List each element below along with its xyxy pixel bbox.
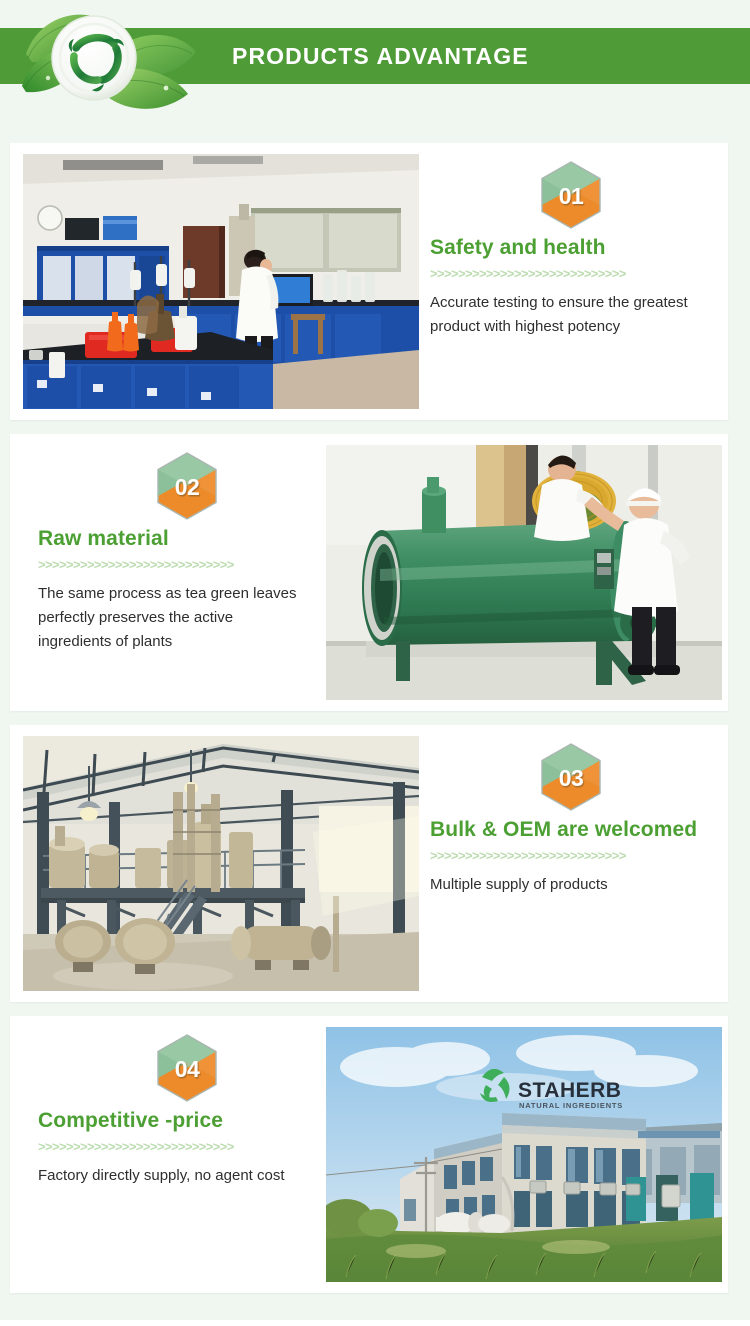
badge-number-03: 03 [540,743,602,811]
card-title-02: Raw material [38,526,338,551]
photo-laboratory [23,154,419,409]
badge-hexagon-04: 04 [156,1034,218,1102]
card-title-04: Competitive -price [38,1108,338,1133]
card-body-04: Factory directly supply, no agent cost [38,1164,300,1188]
chevron-divider-03: >>>>>>>>>>>>>>>>>>>>>>>>>>>> [430,849,685,862]
card-body-03: Multiple supply of products [430,873,692,897]
svg-text:STAHERB: STAHERB [518,1079,621,1102]
badge-number-04: 04 [156,1034,218,1102]
advantage-card-02: 02 Raw material >>>>>>>>>>>>>>>>>>>>>>>>… [10,434,728,711]
photo-extraction-workshop [23,736,419,991]
advantage-card-04: STAHERB NATURAL INGREDIENTS [10,1016,728,1293]
card-text-04: 04 Competitive -price >>>>>>>>>>>>>>>>>>… [38,1034,338,1188]
chevron-divider-04: >>>>>>>>>>>>>>>>>>>>>>>>>>>> [38,1140,293,1153]
card-title-03: Bulk & OEM are welcomed [430,817,730,842]
page-title: PRODUCTS ADVANTAGE [232,28,529,84]
badge-hexagon-01: 01 [540,161,602,229]
card-title-01: Safety and health [430,235,730,260]
card-body-02: The same process as tea green leaves per… [38,582,300,654]
badge-number-02: 02 [156,452,218,520]
badge-hexagon-03: 03 [540,743,602,811]
advantage-card-01: 01 Safety and health >>>>>>>>>>>>>>>>>>>… [10,143,728,420]
page-bottom-edge [0,1320,750,1326]
staherb-leaf-emblem-icon [18,0,218,122]
advantage-card-03: 03 Bulk & OEM are welcomed >>>>>>>>>>>>>… [10,725,728,1002]
photo-factory-building: STAHERB NATURAL INGREDIENTS [326,1027,722,1282]
photo-tea-roasting-machine [326,445,722,700]
badge-number-01: 01 [540,161,602,229]
chevron-divider-02: >>>>>>>>>>>>>>>>>>>>>>>>>>>> [38,558,293,571]
card-text-03: 03 Bulk & OEM are welcomed >>>>>>>>>>>>>… [430,743,730,897]
card-text-02: 02 Raw material >>>>>>>>>>>>>>>>>>>>>>>>… [38,452,338,654]
card-body-01: Accurate testing to ensure the greatest … [430,291,692,339]
badge-hexagon-02: 02 [156,452,218,520]
card-text-01: 01 Safety and health >>>>>>>>>>>>>>>>>>>… [430,161,730,339]
chevron-divider-01: >>>>>>>>>>>>>>>>>>>>>>>>>>>> [430,267,685,280]
svg-text:NATURAL INGREDIENTS: NATURAL INGREDIENTS [519,1101,623,1110]
